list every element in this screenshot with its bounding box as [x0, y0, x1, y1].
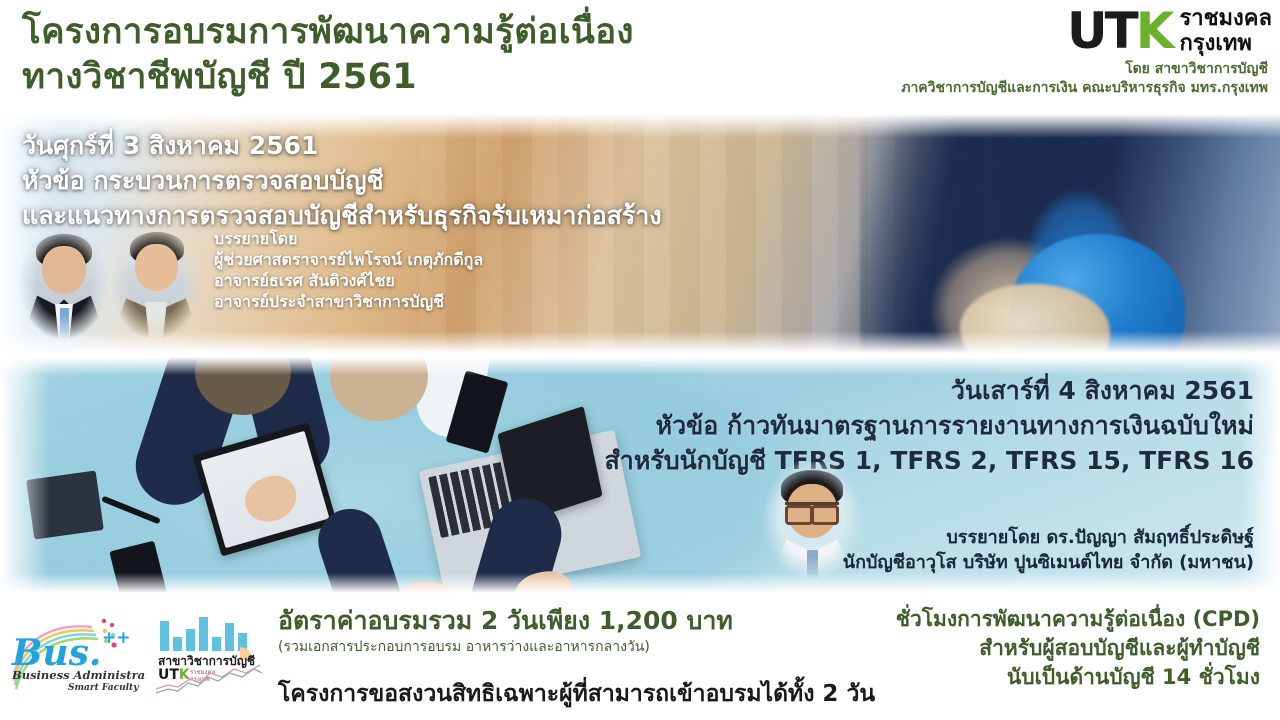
- brand-thai-line-2: กรุงเทพ: [1179, 31, 1272, 56]
- avatar-speaker-1: [16, 226, 111, 338]
- pen-object: [101, 496, 161, 525]
- avatar-speaker-2: [108, 226, 203, 338]
- footer: Bus. ++ Business Administration Smart Fa…: [0, 595, 1280, 720]
- day1-text-block: วันศุกร์ที่ 3 สิงหาคม 2561 หัวข้อ กระบวน…: [22, 128, 662, 233]
- page-title-line-1: โครงการอบรมการพัฒนาความรู้ต่อเนื่อง: [22, 10, 782, 55]
- day1-speaker-line-2: ผู้ช่วยศาสตราจารย์ไพโรจน์ เกตุภักดีกูล: [214, 249, 483, 270]
- cpd-line-3: นับเป็นด้านบัญชี 14 ชั่วโมง: [896, 663, 1260, 692]
- accounting-dept-logo: สาขาวิชาการบัญชี UTK ราชมงคล กรุงเทพ: [152, 607, 264, 695]
- day1-speaker-line-4: อาจารย์ประจำสาขาวิชาการบัญชี: [214, 291, 483, 312]
- svg-text:Business Administration: Business Administration: [11, 668, 146, 682]
- day1-topic-line-1: หัวข้อ กระบวนการตรวจสอบบัญชี: [22, 163, 662, 198]
- bus-faculty-logo: Bus. ++ Business Administration Smart Fa…: [6, 613, 146, 693]
- avatar-1-image: [16, 226, 111, 338]
- header: โครงการอบรมการพัฒนาความรู้ต่อเนื่อง ทางว…: [0, 0, 1280, 112]
- svg-text:Smart Faculty: Smart Faculty: [68, 683, 139, 693]
- bus-logo-icon: Bus. ++ Business Administration Smart Fa…: [6, 613, 146, 693]
- day2-speaker-line-2: นักบัญชีอาวุโส บริษัท ปูนซิเมนต์ไทย จำกั…: [843, 550, 1254, 575]
- avatar-3-tie: [807, 550, 818, 580]
- avatar-1-mask: [16, 226, 111, 338]
- utk-ut-letters: UT: [1067, 2, 1136, 60]
- svg-text:++: ++: [102, 628, 131, 648]
- reservation-note: โครงการขอสงวนสิทธิเฉพาะผู้ที่สามารถเข้าอ…: [278, 679, 875, 709]
- day2-speaker-text: บรรยายโดย ดร.ปัญญา สัมฤทธิ์ประดิษฐ์ นักบ…: [843, 525, 1254, 575]
- day1-speaker-line-1: บรรยายโดย: [214, 228, 483, 249]
- eyeglasses-icon: [785, 502, 839, 516]
- day1-speaker-line-3: อาจารย์ธเรศ สันติวงศ์ไชย: [214, 270, 483, 291]
- avatar-2-mask: [108, 226, 203, 338]
- org-line-1: โดย สาขาวิชาการบัญชี: [452, 60, 1268, 79]
- day2-speaker-line-1: บรรยายโดย ดร.ปัญญา สัมฤทธิ์ประดิษฐ์: [843, 525, 1254, 550]
- accounting-logo-icon: สาขาวิชาการบัญชี UTK ราชมงคล กรุงเทพ: [152, 607, 264, 695]
- fee-block: อัตราค่าอบรมรวม 2 วันเพียง 1,200 บาท (รว…: [278, 605, 733, 657]
- avatar-1-face: [42, 246, 86, 294]
- day2-topic-line-2: สำหรับนักบัญชี TFRS 1, TFRS 2, TFRS 15, …: [605, 443, 1254, 478]
- cpd-block: ชั่วโมงการพัฒนาความรู้ต่อเนื่อง (CPD) สำ…: [896, 605, 1260, 692]
- day1-speakers: บรรยายโดย ผู้ช่วยศาสตราจารย์ไพโรจน์ เกตุ…: [10, 226, 483, 341]
- cpd-line-2: สำหรับผู้สอบบัญชีและผู้ทำบัญชี: [896, 634, 1260, 663]
- day2-date: วันเสาร์ที่ 4 สิงหาคม 2561: [605, 373, 1254, 408]
- cpd-line-1: ชั่วโมงการพัฒนาความรู้ต่อเนื่อง (CPD): [896, 605, 1260, 634]
- day1-banner: วันศุกร์ที่ 3 สิงหาคม 2561 หัวข้อ กระบวน…: [0, 114, 1280, 353]
- day1-date: วันศุกร์ที่ 3 สิงหาคม 2561: [22, 128, 662, 163]
- fee-amount: อัตราค่าอบรมรวม 2 วันเพียง 1,200 บาท: [278, 605, 733, 637]
- svg-text:UTK: UTK: [158, 667, 191, 683]
- poster-root: โครงการอบรมการพัฒนาความรู้ต่อเนื่อง ทางว…: [0, 0, 1280, 720]
- avatar-2-image: [108, 226, 203, 338]
- svg-text:สาขาวิชาการบัญชี: สาขาวิชาการบัญชี: [158, 654, 255, 668]
- utk-wordmark-icon: UTK: [1067, 6, 1171, 56]
- org-subtitle: โดย สาขาวิชาการบัญชี ภาควิชาการบัญชีและก…: [452, 60, 1272, 98]
- svg-text:ราชมงคล: ราชมงคล: [190, 669, 216, 676]
- day2-topic-line-1: หัวข้อ ก้าวทันมาตรฐานการรายงานทางการเงิน…: [605, 408, 1254, 443]
- day2-bottom-fade: [0, 573, 1280, 593]
- avatar-2-face: [135, 244, 178, 291]
- brand-thai-name: ราชมงคล กรุงเทพ: [1179, 6, 1272, 56]
- org-line-2: ภาควิชาการบัญชีและการเงิน คณะบริหารธุรกิ…: [452, 79, 1268, 98]
- utk-logo: UTK ราชมงคล กรุงเทพ: [942, 2, 1272, 60]
- day1-speaker-text: บรรยายโดย ผู้ช่วยศาสตราจารย์ไพโรจน์ เกตุ…: [214, 226, 483, 312]
- day1-speaker-photos: [10, 226, 200, 341]
- day2-left-fade: [0, 357, 50, 593]
- brand-thai-line-1: ราชมงคล: [1179, 6, 1272, 31]
- avatar-1-tie: [60, 308, 69, 338]
- utk-k-letter: K: [1136, 2, 1172, 60]
- fee-inclusions: (รวมเอกสารประกอบการอบรม อาหารว่างและอาหา…: [278, 637, 733, 657]
- day2-text-block: วันเสาร์ที่ 4 สิงหาคม 2561 หัวข้อ ก้าวทั…: [605, 373, 1254, 478]
